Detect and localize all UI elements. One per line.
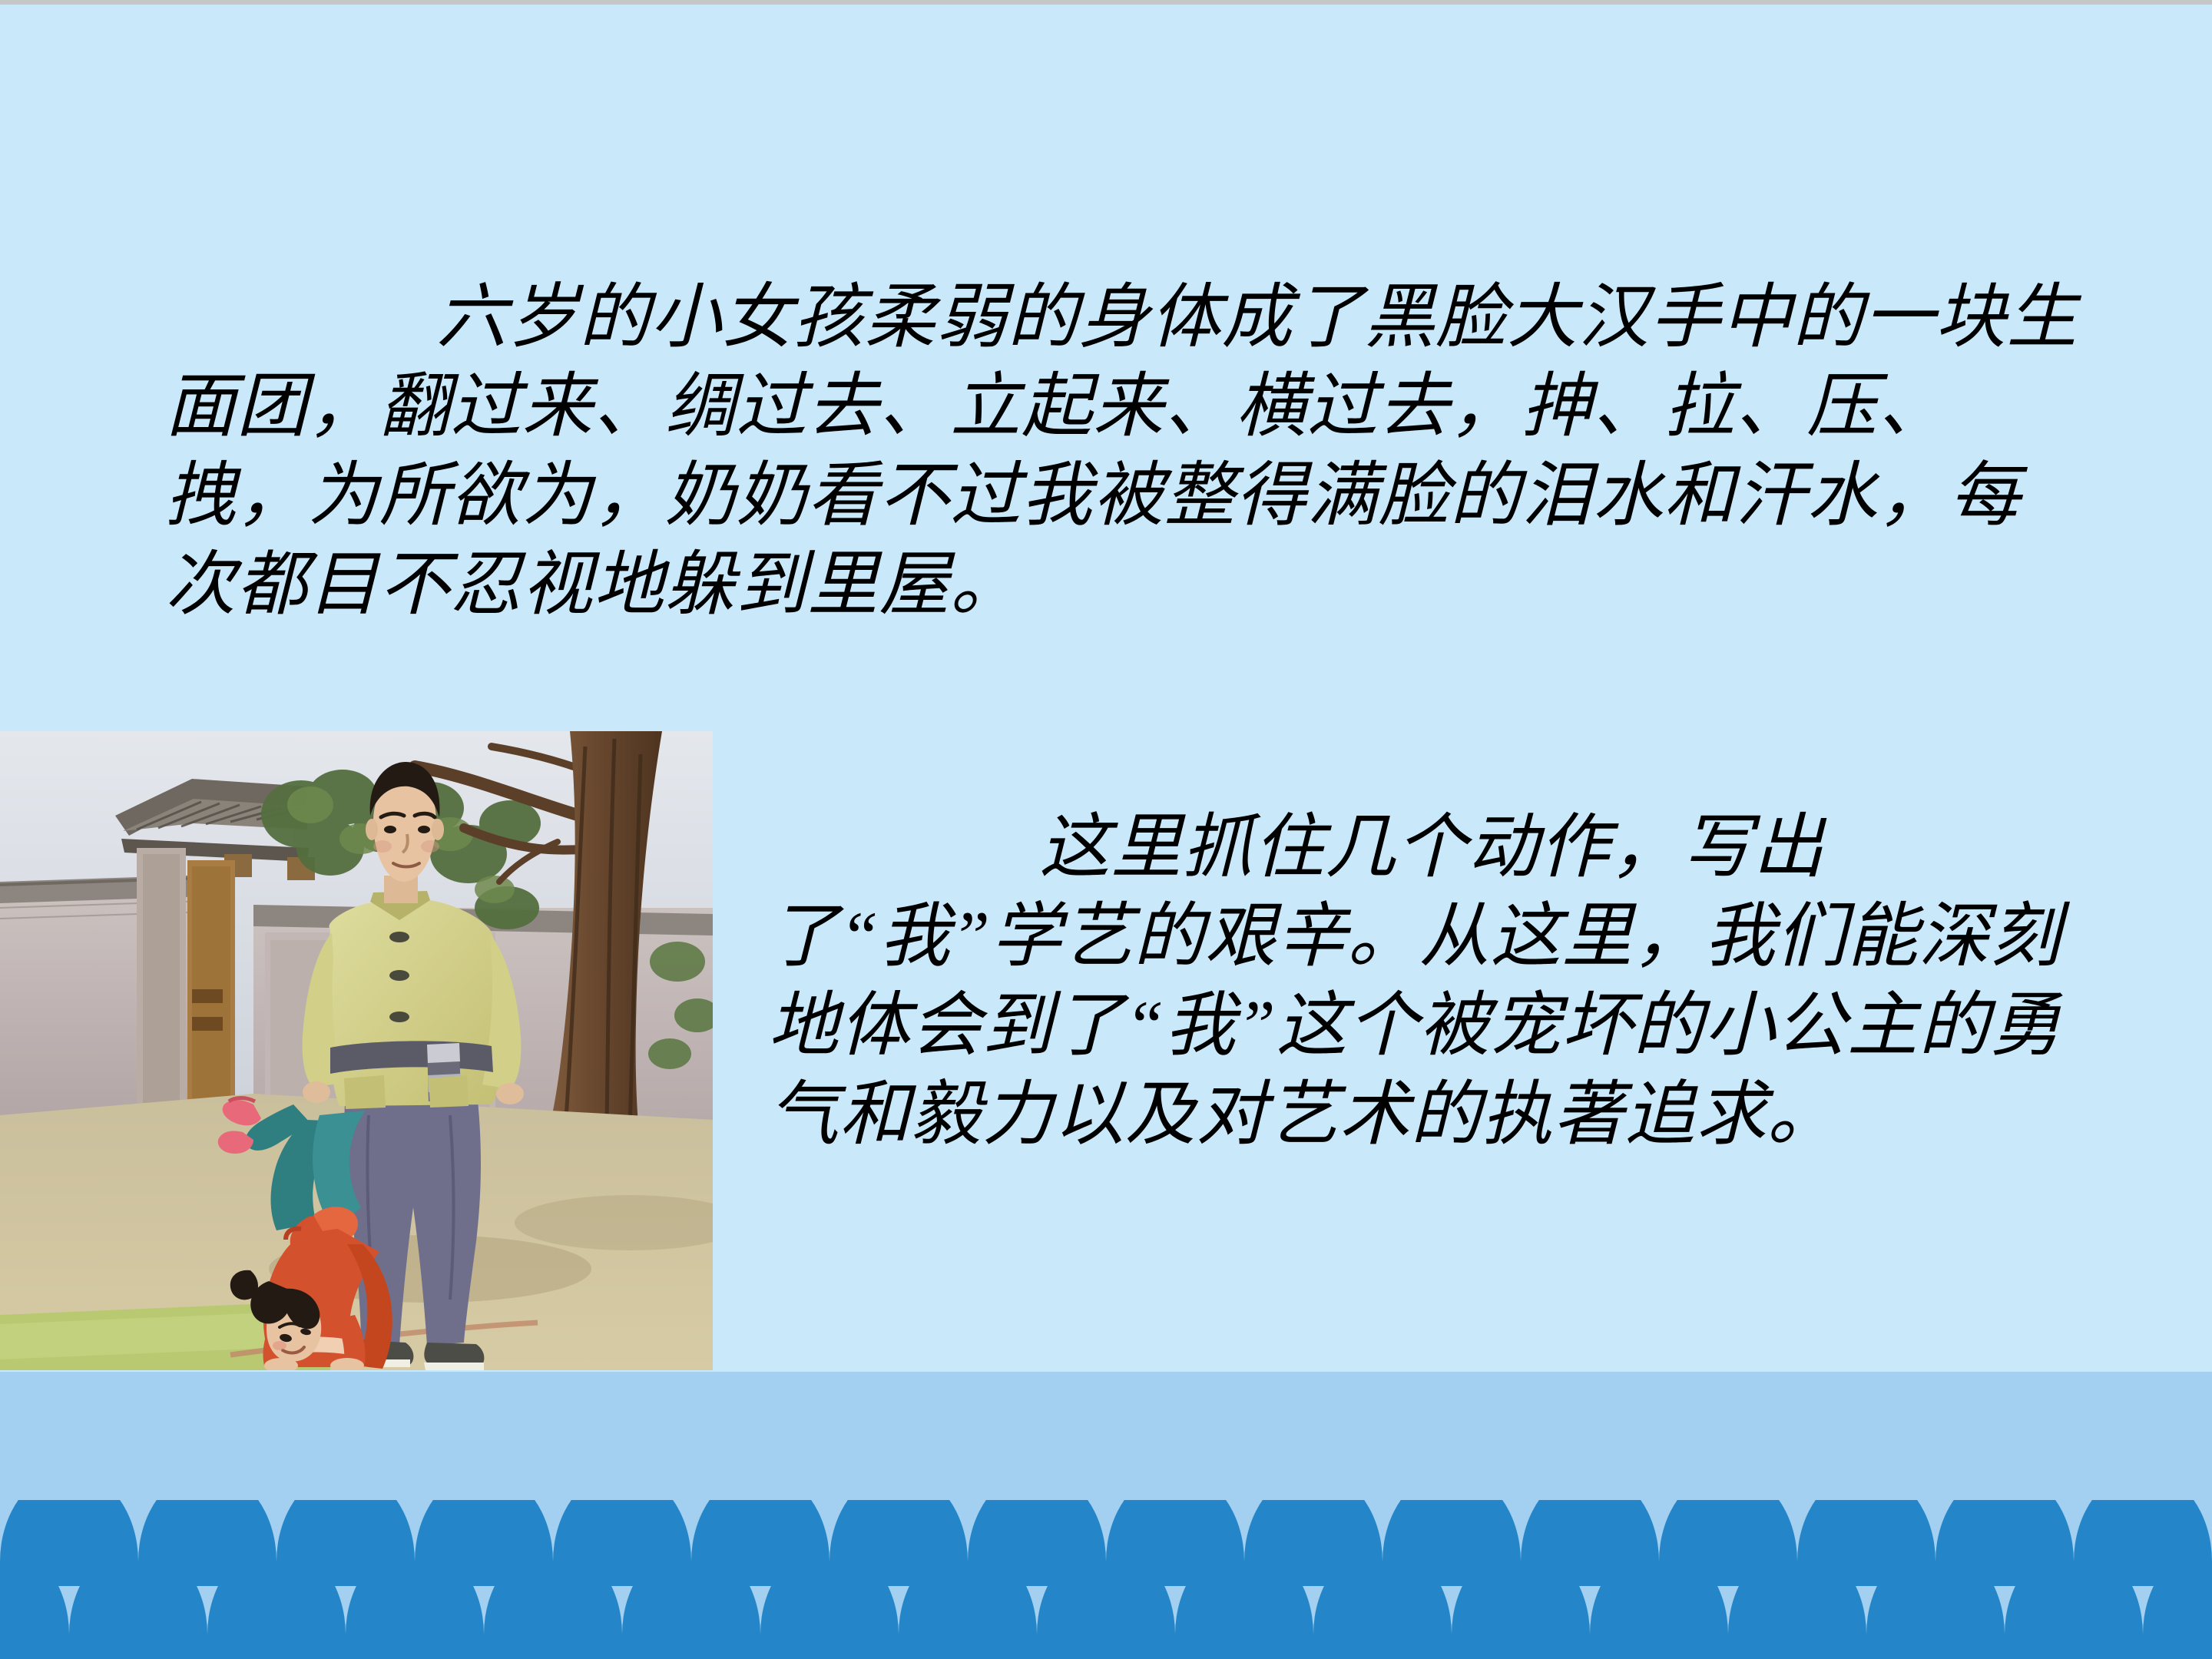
dome-shape [1244, 1500, 1382, 1586]
commentary-text: 这里抓住几个动作，写出了“我”学艺的艰辛。从这里，我们能深刻地体会到了“我”这个… [768, 808, 2061, 1154]
dome-shape [553, 1500, 691, 1586]
excerpt-quote-text: 六岁的小女孩柔弱的身体成了黑脸大汉手中的一块生面团，翻过来、绸过去、立起来、横过… [165, 278, 2078, 624]
dome-shape [1866, 1584, 2005, 1659]
dome-shape [1936, 1500, 2074, 1586]
dome-shape [0, 1584, 69, 1659]
dome-shape [1313, 1584, 1452, 1659]
dome-shape [346, 1584, 484, 1659]
dome-shape [1106, 1500, 1244, 1586]
slide-canvas: 六岁的小女孩柔弱的身体成了黑脸大汉手中的一块生面团，翻过来、绸过去、立起来、横过… [0, 0, 2212, 1659]
dome-shape [2074, 1500, 2212, 1586]
dome-shape [1521, 1500, 1659, 1586]
dome-shape [138, 1500, 276, 1586]
dome-shape [691, 1500, 829, 1586]
dome-shape [1382, 1500, 1521, 1586]
dome-shape [276, 1500, 415, 1586]
dome-shape [484, 1584, 622, 1659]
dome-shape [968, 1500, 1106, 1586]
courtyard-training-illustration [0, 731, 713, 1370]
dome-shape [622, 1584, 760, 1659]
dome-shape [1728, 1584, 1866, 1659]
dome-shape [1175, 1584, 1313, 1659]
dome-shape [0, 1500, 138, 1586]
dome-shape [2143, 1584, 2212, 1659]
dome-row-front [0, 1584, 2212, 1659]
dome-shape [207, 1584, 346, 1659]
dome-shape [1037, 1584, 1175, 1659]
excerpt-quote-paragraph: 六岁的小女孩柔弱的身体成了黑脸大汉手中的一块生面团，翻过来、绸过去、立起来、横过… [165, 184, 2085, 718]
dome-shape [69, 1584, 207, 1659]
dome-shape [1659, 1500, 1797, 1586]
dome-shape [1590, 1584, 1728, 1659]
dome-shape [1452, 1584, 1590, 1659]
dome-shape [760, 1584, 899, 1659]
illustration-artwork [0, 731, 713, 1370]
dome-shape [2005, 1584, 2143, 1659]
dome-shape [1797, 1500, 1936, 1586]
dome-shape [899, 1584, 1037, 1659]
commentary-paragraph: 这里抓住几个动作，写出了“我”学艺的艰辛。从这里，我们能深刻地体会到了“我”这个… [768, 714, 2089, 1248]
dome-row-back [0, 1500, 2212, 1586]
dome-shape [415, 1500, 553, 1586]
dome-shape [829, 1500, 968, 1586]
